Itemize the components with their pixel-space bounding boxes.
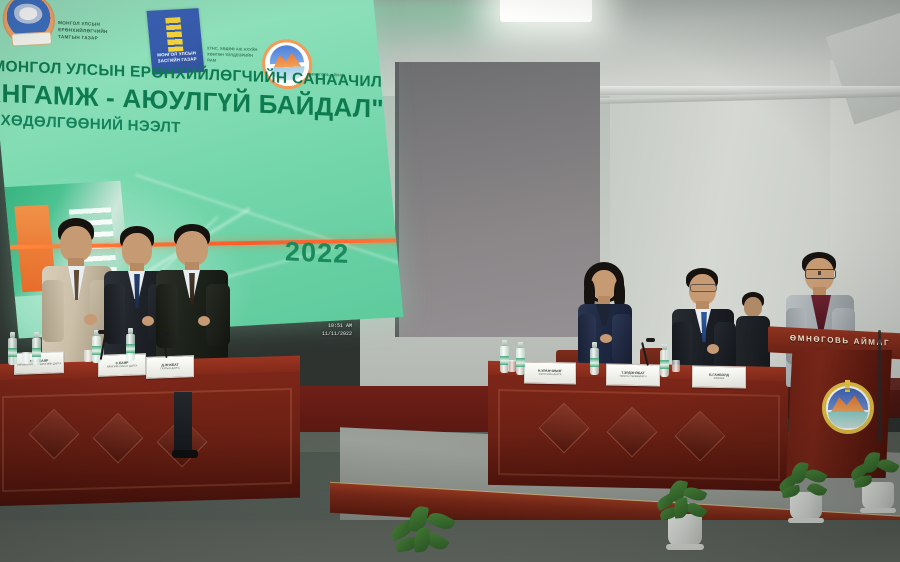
nameplate-role: ЯАМНЫ ТӨЛӨӨЛӨГЧ bbox=[620, 375, 647, 379]
nameplate: Н.УРАНЧИМЭГ ХЭЛТСИЙН ДАРГА bbox=[524, 362, 576, 385]
hand-on-chest bbox=[142, 316, 154, 326]
nameplate: Д.ЭНХБАТ ГАЗРЫН ДАРГА bbox=[146, 355, 194, 379]
ceiling-light-panel bbox=[500, 0, 592, 22]
nameplate: Т.ЭРДЭНЭБАТ ЯАМНЫ ТӨЛӨӨЛӨГЧ bbox=[606, 364, 660, 387]
head bbox=[176, 231, 208, 266]
drinking-glass bbox=[508, 360, 516, 372]
screen-headline: МОНГОЛ УЛСЫН ЕРӨНХИЙЛӨГЧИЙН САНААЧИЛСАН … bbox=[0, 52, 388, 145]
ministry-caption-text: ХҮНС, ХӨДӨӨ АЖ АХУЙН ХӨНГӨН ҮЙЛДВЭРИЙН Я… bbox=[207, 45, 259, 65]
plant-pot bbox=[862, 482, 894, 510]
arm-left bbox=[156, 284, 178, 348]
nameplate-role: ХЭЛТСИЙН ДАРГА bbox=[538, 373, 561, 377]
standing-person-legs bbox=[174, 392, 192, 454]
government-logo-caption: МОНГОЛ УЛСЫН ЗАСГИЙН ГАЗАР bbox=[152, 50, 201, 65]
plant-pot-base bbox=[666, 544, 704, 550]
drinking-glass bbox=[672, 360, 680, 372]
screen-year-label: 2022 bbox=[285, 237, 349, 270]
plant-pot bbox=[790, 492, 822, 520]
timestamp-time: 10:51 AM bbox=[308, 322, 352, 330]
head bbox=[122, 233, 152, 267]
nameplate: С.БАЯР АЙМГИЙН ЗАСАГ ДАРГА bbox=[98, 353, 146, 377]
nameplate-role: ГАЗРЫН ДАРГА bbox=[160, 367, 179, 371]
hand-on-chest bbox=[84, 314, 97, 325]
president-emblem-scroll-icon bbox=[11, 31, 52, 46]
plant-pot-base bbox=[788, 518, 824, 523]
plant-pot-base bbox=[860, 508, 896, 513]
wall-dark-panel bbox=[395, 62, 600, 337]
head bbox=[744, 297, 762, 317]
arm-left bbox=[104, 284, 125, 344]
nameplate-role: АЙМГИЙН ЗАСАГ ДАРГА bbox=[107, 365, 138, 369]
drinking-glass bbox=[22, 352, 30, 364]
soyombo-icon bbox=[165, 17, 183, 52]
glasses-icon bbox=[690, 284, 717, 292]
arm-right bbox=[612, 314, 632, 362]
arm-left bbox=[42, 280, 64, 342]
glasses-bridge bbox=[818, 271, 821, 275]
plant-pot bbox=[668, 514, 702, 546]
nameplate-role: ЗӨВЛӨХ bbox=[714, 377, 725, 380]
camera-timestamp-overlay: 10:51 AM 11/11/2022 bbox=[308, 322, 352, 338]
hand-on-chest bbox=[600, 334, 612, 343]
nameplate: Б.ГАНБОЛД ЗӨВЛӨХ bbox=[692, 366, 746, 389]
timestamp-date: 11/11/2022 bbox=[308, 330, 352, 338]
shoe bbox=[172, 450, 198, 458]
conference-hall-photo: МОНГОЛ УЛСЫН ЕРӨНХИЙЛӨГЧИЙН ТАМГЫН ГАЗАР… bbox=[0, 0, 900, 562]
drinking-glass bbox=[84, 350, 92, 362]
hand-on-chest bbox=[707, 344, 719, 354]
arm-right bbox=[206, 284, 230, 346]
podium-emblem-soyombo-icon bbox=[845, 380, 850, 392]
wall-cable bbox=[878, 330, 881, 442]
president-office-caption: МОНГОЛ УЛСЫН ЕРӨНХИЙЛӨГЧИЙН ТАМГЫН ГАЗАР bbox=[58, 20, 118, 43]
head bbox=[60, 226, 92, 262]
hand-on-chest bbox=[198, 316, 210, 326]
